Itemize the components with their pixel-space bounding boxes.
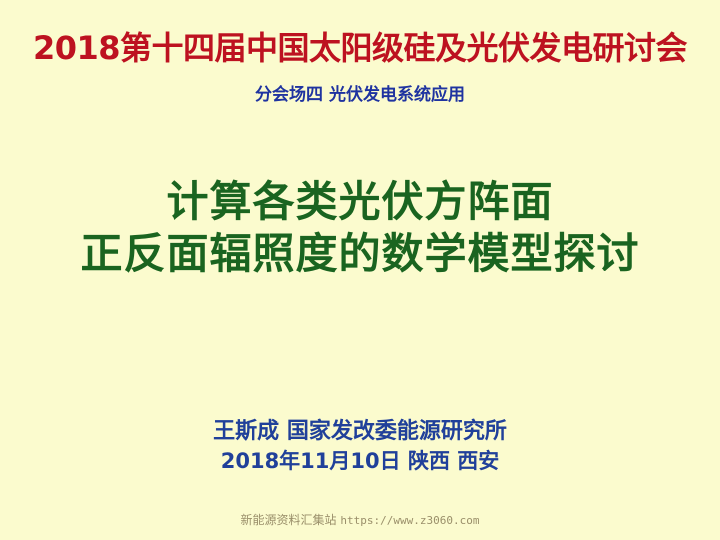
- conference-title: 2018第十四届中国太阳级硅及光伏发电研讨会: [0, 28, 720, 68]
- session-subtitle: 分会场四 光伏发电系统应用: [0, 84, 720, 106]
- main-title: 计算各类光伏方阵面 正反面辐照度的数学模型探讨: [0, 176, 720, 280]
- watermark-url: https://www.z3060.com: [340, 514, 479, 527]
- main-title-line-1: 计算各类光伏方阵面: [0, 176, 720, 228]
- main-title-line-2: 正反面辐照度的数学模型探讨: [0, 228, 720, 280]
- footer-watermark: 新能源资料汇集站 https://www.z3060.com: [0, 512, 720, 529]
- watermark-site-name: 新能源资料汇集站: [241, 513, 337, 527]
- presenter-block: 王斯成 国家发改委能源研究所 2018年11月10日 陕西 西安: [0, 416, 720, 476]
- presentation-date-location: 2018年11月10日 陕西 西安: [0, 446, 720, 476]
- presenter-name-affiliation: 王斯成 国家发改委能源研究所: [0, 416, 720, 446]
- presentation-slide: 2018第十四届中国太阳级硅及光伏发电研讨会 分会场四 光伏发电系统应用 计算各…: [0, 0, 720, 540]
